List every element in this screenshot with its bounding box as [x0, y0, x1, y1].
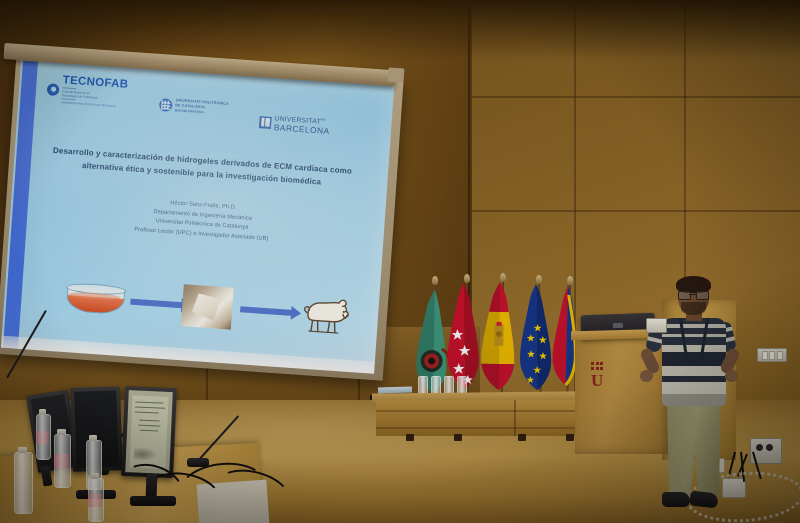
lectern-university-logo: U	[591, 362, 613, 392]
presenter-lanyard	[680, 318, 708, 358]
slide-title: Desarrollo y caracterización de hidrogel…	[51, 145, 352, 192]
light-switch-plate[interactable]	[757, 348, 787, 362]
dais-foot	[454, 434, 462, 441]
tecnofab-subtitle: Grup de Recerca en Tecnologies de Fabric…	[61, 87, 118, 109]
right-arrow-icon	[130, 299, 182, 309]
presenter-hand-left	[640, 370, 653, 382]
presenter-name-badge	[646, 318, 667, 333]
ub-crest-icon	[259, 116, 272, 129]
ub-line2: BARCELONA	[274, 123, 330, 136]
upc-grid-icon	[159, 98, 173, 112]
slide-author-block: Héctor Sanz-Fraile, Ph.D. Departamento d…	[61, 192, 343, 250]
screen-roller-end-cap	[388, 67, 405, 82]
presenter-trousers	[667, 404, 721, 496]
water-bottle-5[interactable]	[88, 478, 102, 520]
logo-tecnofab: TECNOFAB Grup de Recerca en Tecnologies …	[46, 74, 129, 109]
tecnofab-affiliation: UNIVERSITAT POLITÈCNICA DE CATALUNYA	[61, 101, 116, 108]
flag-european-union	[528, 282, 552, 404]
water-bottle-1[interactable]	[14, 452, 31, 512]
water-bottle-2[interactable]	[54, 434, 69, 486]
lectern-logo-letter: U	[591, 372, 613, 389]
dais-foot	[406, 434, 414, 441]
flag-spain	[491, 280, 514, 404]
dais-foot	[518, 434, 526, 441]
gear-icon	[47, 83, 60, 96]
slide-logo-row: TECNOFAB Grup de Recerca en Tecnologies …	[45, 72, 377, 139]
water-bottles-on-dais	[418, 376, 470, 394]
presenter-standing	[640, 278, 750, 523]
av-cables	[120, 455, 340, 523]
presenter-shoe-left	[662, 492, 690, 507]
logo-ub: UNIVERSITATde BARCELONA	[259, 113, 331, 136]
dais-panel-split	[514, 400, 516, 436]
projected-slide: TECNOFAB Grup de Recerca en Tecnologies …	[1, 60, 394, 373]
water-bottle-3[interactable]	[36, 414, 49, 458]
projection-screen-assembly: TECNOFAB Grup de Recerca en Tecnologies …	[2, 20, 412, 350]
presenter-hand-right	[725, 370, 738, 382]
gel-sample-photo	[181, 284, 234, 329]
lectern-logo-dots	[591, 362, 613, 370]
slide-figure-row	[43, 269, 356, 346]
presentation-photo-scene: TECNOFAB Grup de Recerca en Tecnologies …	[0, 0, 800, 523]
eyeglasses-icon	[678, 291, 709, 298]
logo-upc: UNIVERSITAT POLITÈCNICA DE CATALUNYA BAR…	[159, 97, 229, 116]
pig-icon	[300, 293, 351, 340]
dais-foot	[566, 434, 574, 441]
right-arrow-icon	[240, 306, 292, 316]
petri-dish-icon	[66, 282, 124, 316]
presenter-beard	[681, 302, 706, 315]
